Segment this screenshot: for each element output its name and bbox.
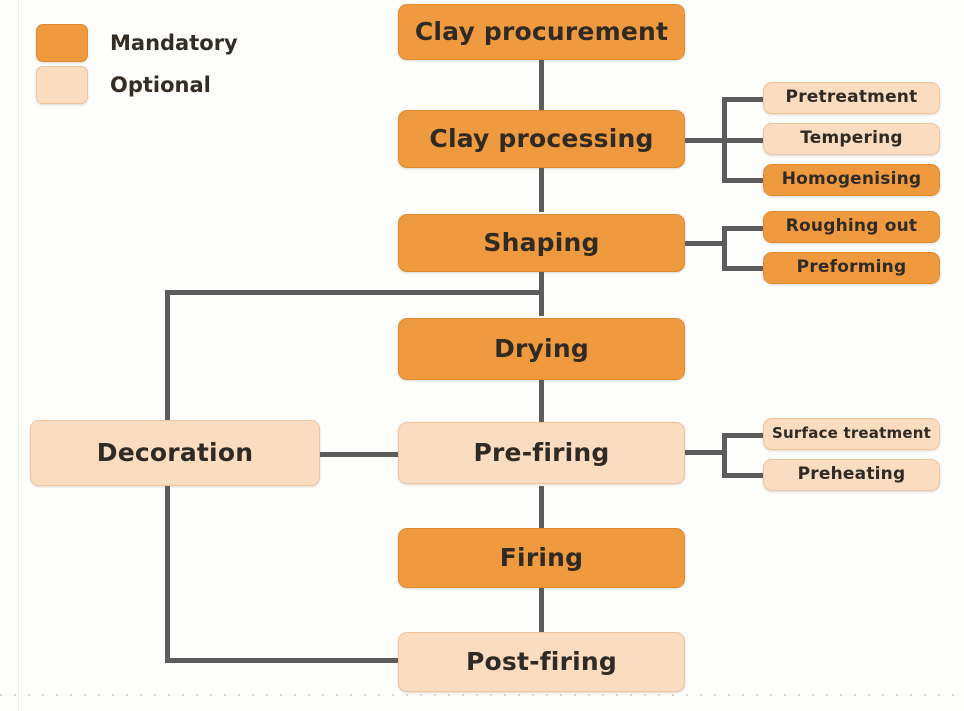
legend: Mandatory Optional [36, 22, 238, 106]
node-label-tempering: Tempering [794, 130, 909, 148]
connector-prefiring-stem [684, 450, 726, 455]
node-decoration[interactable]: Decoration [30, 420, 320, 486]
legend-item-optional: Optional [36, 64, 238, 106]
legend-swatch-mandatory [36, 24, 88, 62]
connector-procurement-to-processing [539, 58, 544, 112]
node-label-preforming: Preforming [791, 259, 913, 277]
node-label-pre-firing: Pre-firing [467, 440, 615, 466]
node-firing[interactable]: Firing [398, 528, 685, 588]
connector-prefiring-to-preheating [722, 473, 766, 478]
scan-artifact-dotted-line [0, 694, 964, 696]
connector-shaping-to-preforming [722, 266, 766, 271]
node-label-preheating: Preheating [792, 466, 912, 484]
node-roughing-out[interactable]: Roughing out [763, 211, 940, 243]
connector-drying-to-prefiring [539, 380, 544, 422]
node-tempering[interactable]: Tempering [763, 123, 940, 155]
connector-decoration-top-horizontal [167, 290, 541, 295]
node-preforming[interactable]: Preforming [763, 252, 940, 284]
flowchart-canvas: Mandatory Optional Clay procurement Clay… [0, 0, 964, 711]
legend-item-mandatory: Mandatory [36, 22, 238, 64]
node-label-post-firing: Post-firing [460, 649, 623, 675]
legend-label-optional: Optional [110, 73, 211, 97]
connector-firing-to-postfiring [539, 588, 544, 632]
node-drying[interactable]: Drying [398, 318, 685, 380]
node-label-roughing-out: Roughing out [780, 218, 923, 236]
node-surface-treatment[interactable]: Surface treatment [763, 418, 940, 450]
connector-shaping-stem [684, 241, 726, 246]
scan-artifact-vertical-line [18, 0, 19, 711]
connector-prefiring-to-firing [539, 486, 544, 528]
node-pre-firing[interactable]: Pre-firing [398, 422, 685, 484]
node-clay-procurement[interactable]: Clay procurement [398, 4, 685, 60]
node-label-firing: Firing [494, 545, 589, 571]
legend-swatch-optional [36, 66, 88, 104]
connector-processing-to-shaping [539, 168, 544, 212]
connector-prefiring-bracket-spine [722, 433, 727, 478]
connector-processing-to-tempering [722, 138, 766, 143]
node-pretreatment[interactable]: Pretreatment [763, 82, 940, 114]
node-post-firing[interactable]: Post-firing [398, 632, 685, 692]
node-label-homogenising: Homogenising [776, 171, 928, 189]
node-label-decoration: Decoration [91, 440, 259, 466]
node-label-clay-procurement: Clay procurement [409, 19, 674, 45]
node-label-pretreatment: Pretreatment [780, 89, 924, 107]
connector-shaping-to-roughing-out [722, 226, 766, 231]
connector-decoration-bottom-horizontal [165, 658, 403, 663]
connector-processing-to-homogenising [722, 178, 766, 183]
node-label-shaping: Shaping [477, 230, 605, 256]
node-clay-processing[interactable]: Clay processing [398, 110, 685, 168]
node-shaping[interactable]: Shaping [398, 214, 685, 272]
connector-shaping-bracket-spine [722, 226, 727, 271]
connector-processing-to-pretreatment [722, 97, 766, 102]
node-preheating[interactable]: Preheating [763, 459, 940, 491]
connector-prefiring-to-surface-treatment [722, 433, 766, 438]
node-label-clay-processing: Clay processing [423, 126, 659, 152]
connector-decoration-to-prefiring [318, 452, 400, 457]
node-homogenising[interactable]: Homogenising [763, 164, 940, 196]
connector-processing-stem [684, 138, 726, 143]
legend-label-mandatory: Mandatory [110, 31, 238, 55]
node-label-drying: Drying [488, 336, 595, 362]
node-label-surface-treatment: Surface treatment [766, 426, 937, 442]
